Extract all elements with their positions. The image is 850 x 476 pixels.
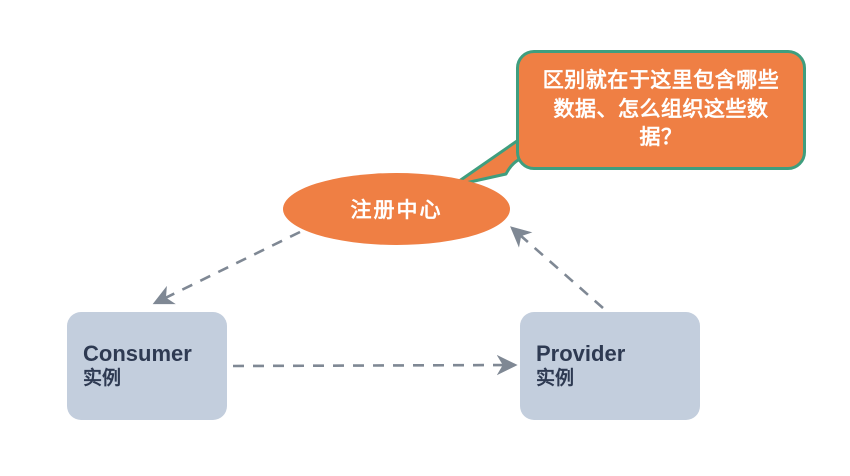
node-provider[interactable]: Provider 实例 — [520, 312, 700, 420]
node-registry-center[interactable]: 注册中心 — [283, 173, 510, 245]
node-consumer-subtitle: 实例 — [83, 367, 227, 391]
callout-bubble: 区别就在于这里包含哪些数据、怎么组织这些数据？ — [516, 50, 806, 170]
callout-text: 区别就在于这里包含哪些数据、怎么组织这些数据？ — [519, 67, 803, 152]
node-provider-subtitle: 实例 — [536, 367, 700, 391]
node-provider-title: Provider — [536, 341, 700, 367]
edge-provider-to-registry — [512, 228, 603, 308]
edge-registry-to-consumer — [155, 232, 300, 303]
node-registry-label: 注册中心 — [351, 194, 443, 224]
node-consumer[interactable]: Consumer 实例 — [67, 312, 227, 420]
node-consumer-title: Consumer — [83, 341, 227, 367]
edge-consumer-to-provider — [233, 365, 515, 366]
diagram-canvas: 区别就在于这里包含哪些数据、怎么组织这些数据？ 注册中心 Consumer 实例… — [0, 0, 850, 476]
